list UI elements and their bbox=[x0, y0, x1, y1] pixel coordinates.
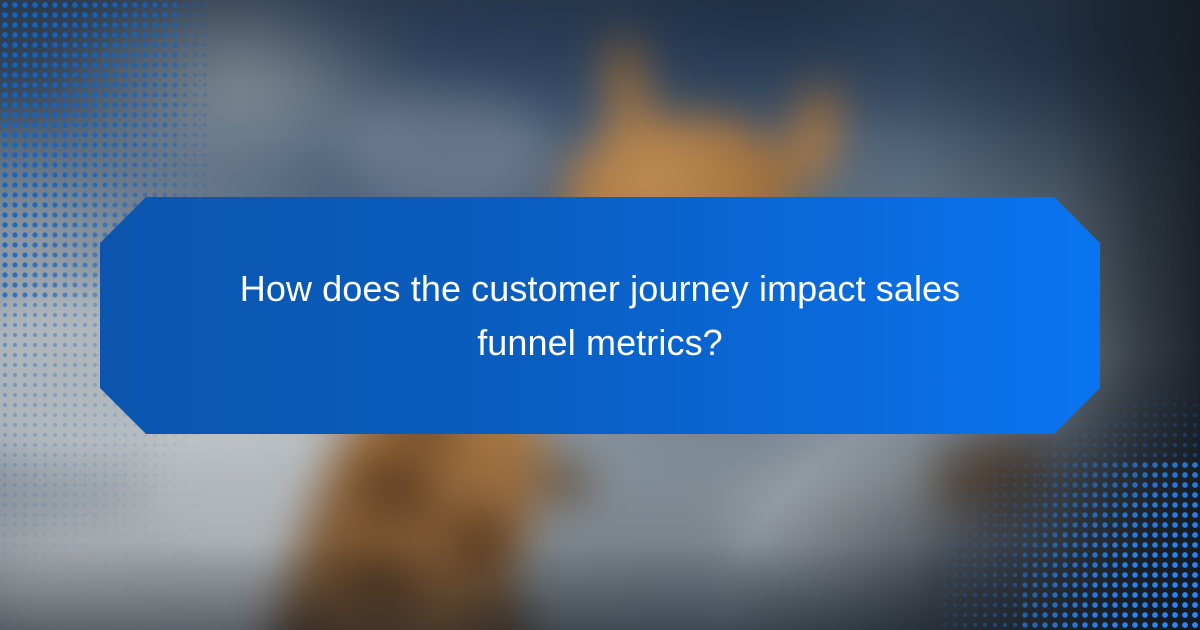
halftone-dots-bottom-right-core bbox=[1020, 460, 1200, 630]
headline-banner: How does the customer journey impact sal… bbox=[100, 197, 1100, 434]
headline-text: How does the customer journey impact sal… bbox=[134, 262, 1066, 369]
question-card: How does the customer journey impact sal… bbox=[0, 0, 1200, 630]
